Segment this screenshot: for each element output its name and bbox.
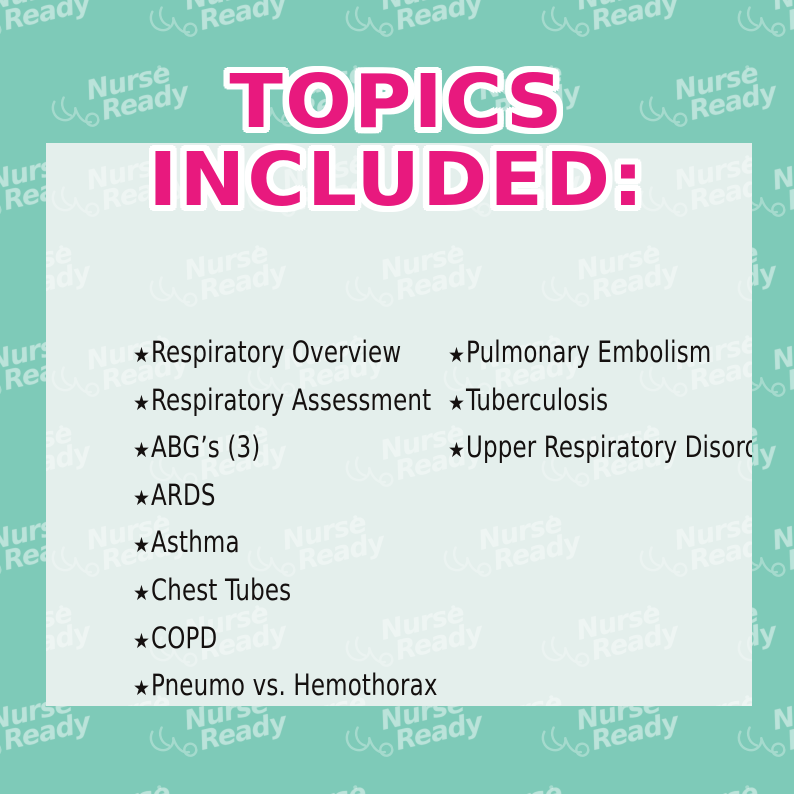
- star-bullet-icon: ★: [133, 522, 150, 570]
- star-bullet-icon: ★: [448, 332, 465, 380]
- watermark-tile: NurseReady: [637, 762, 794, 794]
- topic-item: ★ABG’s (3): [133, 424, 448, 472]
- star-bullet-icon: ★: [133, 475, 150, 523]
- topic-item: ★COPD: [133, 615, 448, 663]
- topics-column-left: ★Respiratory Overview★Respiratory Assess…: [133, 329, 448, 706]
- topic-item: ★Respiratory Assessment: [133, 377, 448, 425]
- watermark-tile: NurseReady: [46, 402, 139, 534]
- topic-label: Respiratory Overview: [151, 329, 401, 377]
- topic-item: ★ARDS: [133, 472, 448, 520]
- watermark-tile: NurseReady: [46, 582, 139, 706]
- topic-item: ★Upper Respiratory Disorders: [448, 424, 752, 472]
- star-bullet-icon: ★: [133, 427, 150, 475]
- topic-label: Respiratory Assessment: [151, 377, 431, 425]
- topic-item: ★Pneumo vs. Hemothorax: [133, 662, 448, 706]
- star-bullet-icon: ★: [133, 332, 150, 380]
- topic-item: ★Respiratory Overview: [133, 329, 448, 377]
- topic-item: ★Chest Tubes: [133, 567, 448, 615]
- topic-item: ★Pulmonary Embolism: [448, 329, 752, 377]
- star-bullet-icon: ★: [448, 380, 465, 428]
- topic-label: Upper Respiratory Disorders: [466, 424, 752, 472]
- topic-label: COPD: [151, 615, 217, 663]
- star-bullet-icon: ★: [133, 618, 150, 666]
- page-title: TOPICS INCLUDED:: [0, 63, 794, 219]
- star-bullet-icon: ★: [133, 380, 150, 428]
- watermark-tile: NurseReady: [735, 582, 752, 706]
- topics-column-right: ★Pulmonary Embolism★Tuberculosis★Upper R…: [448, 329, 752, 472]
- topic-label: Tuberculosis: [466, 377, 608, 425]
- topic-item: ★Asthma: [133, 519, 448, 567]
- watermark-tile: NurseReady: [539, 582, 726, 706]
- watermark-tile: NurseReady: [637, 672, 752, 706]
- watermark-tile: NurseReady: [0, 402, 41, 534]
- topic-label: Asthma: [151, 519, 240, 567]
- watermark-tile: NurseReady: [0, 762, 41, 794]
- star-bullet-icon: ★: [133, 665, 150, 706]
- watermark-tile: NurseReady: [441, 492, 628, 624]
- watermark-tile: NurseReady: [441, 762, 628, 794]
- watermark-tile: NurseReady: [0, 582, 41, 714]
- star-bullet-icon: ★: [448, 427, 465, 475]
- topic-label: Pneumo vs. Hemothorax: [151, 662, 438, 706]
- topic-label: ARDS: [151, 472, 216, 520]
- watermark-tile: NurseReady: [637, 492, 752, 624]
- watermark-tile: NurseReady: [0, 222, 41, 354]
- watermark-tile: NurseReady: [49, 762, 236, 794]
- topic-label: ABG’s (3): [151, 424, 260, 472]
- topic-label: Chest Tubes: [151, 567, 291, 615]
- topic-label: Pulmonary Embolism: [466, 329, 711, 377]
- watermark-tile: NurseReady: [245, 762, 432, 794]
- topics-card: NurseReadyNurseReadyNurseReadyNurseReady…: [46, 143, 752, 706]
- star-bullet-icon: ★: [133, 570, 150, 618]
- topic-item: ★Tuberculosis: [448, 377, 752, 425]
- watermark-tile: NurseReady: [46, 222, 139, 354]
- watermark-tile: NurseReady: [441, 672, 628, 706]
